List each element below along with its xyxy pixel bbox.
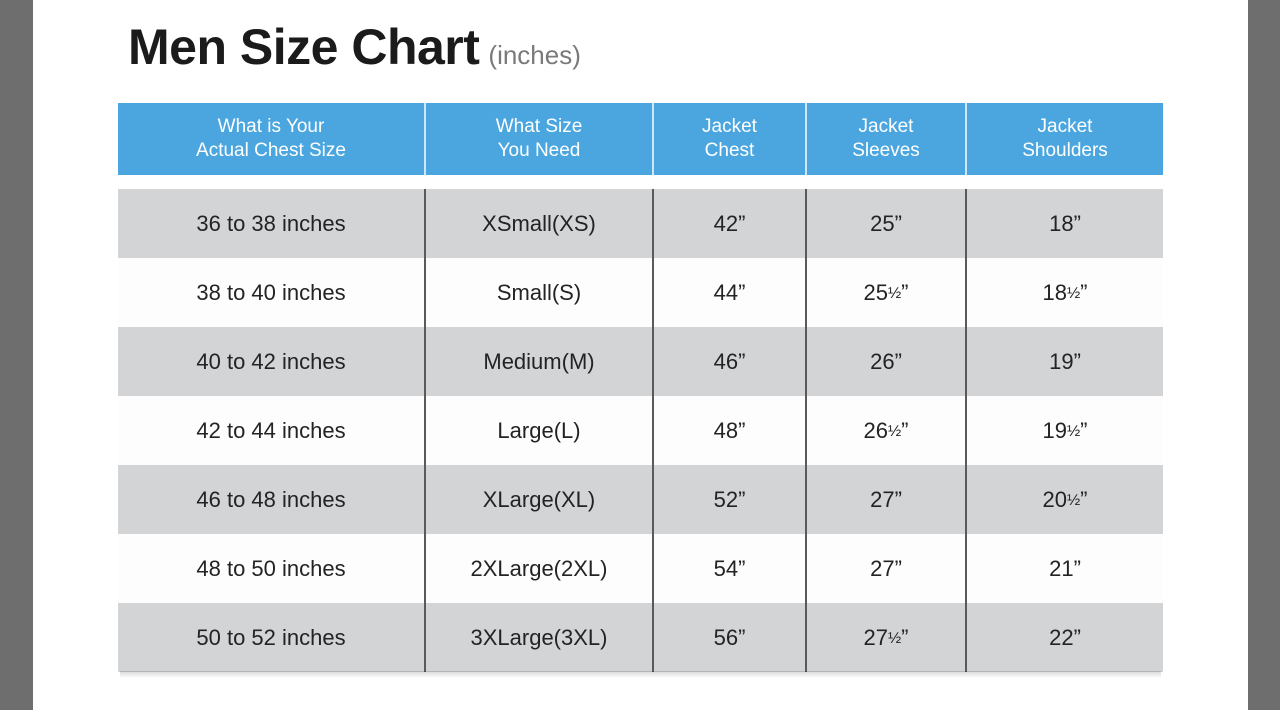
size-chart-table-wrapper: What is Your Actual Chest Size What Size… — [118, 103, 1163, 672]
column-header-jacket-shoulders-line2: Shoulders — [971, 139, 1159, 163]
cell-jacket-sleeves: 27½” — [806, 603, 966, 672]
cell-size-needed: XSmall(XS) — [425, 189, 653, 258]
cell-jacket-sleeves: 25½” — [806, 258, 966, 327]
column-header-jacket-shoulders-line1: Jacket — [971, 115, 1159, 139]
cell-jacket-chest: 44” — [653, 258, 806, 327]
cell-actual-chest: 50 to 52 inches — [118, 603, 425, 672]
cell-jacket-chest: 46” — [653, 327, 806, 396]
column-header-jacket-sleeves-line2: Sleeves — [811, 139, 961, 163]
column-header-jacket-sleeves: Jacket Sleeves — [806, 103, 966, 175]
column-header-jacket-chest: Jacket Chest — [653, 103, 806, 175]
cell-size-needed: Large(L) — [425, 396, 653, 465]
cell-jacket-chest: 54” — [653, 534, 806, 603]
column-header-actual-chest-line2: Actual Chest Size — [122, 139, 420, 163]
column-header-size-needed-line1: What Size — [430, 115, 648, 139]
column-header-actual-chest-line1: What is Your — [122, 115, 420, 139]
column-header-size-needed: What Size You Need — [425, 103, 653, 175]
page-title-main: Men Size Chart — [128, 18, 479, 76]
table-row: 38 to 40 inches Small(S) 44” 25½” 18½” — [118, 258, 1163, 327]
cell-actual-chest: 38 to 40 inches — [118, 258, 425, 327]
cell-jacket-chest: 48” — [653, 396, 806, 465]
cell-jacket-shoulders: 18½” — [966, 258, 1163, 327]
header-body-gap — [118, 175, 1163, 189]
letterbox-right — [1248, 0, 1280, 710]
cell-jacket-sleeves: 26” — [806, 327, 966, 396]
slide-content: Men Size Chart (inches) What is Your Act… — [33, 0, 1248, 710]
cell-jacket-shoulders: 18” — [966, 189, 1163, 258]
cell-jacket-shoulders: 19” — [966, 327, 1163, 396]
cell-jacket-sleeves: 27” — [806, 465, 966, 534]
cell-jacket-shoulders: 22” — [966, 603, 1163, 672]
cell-jacket-shoulders: 21” — [966, 534, 1163, 603]
column-header-jacket-chest-line1: Jacket — [658, 115, 801, 139]
table-row: 36 to 38 inches XSmall(XS) 42” 25” 18” — [118, 189, 1163, 258]
table-header: What is Your Actual Chest Size What Size… — [118, 103, 1163, 175]
page-title: Men Size Chart (inches) — [128, 18, 581, 76]
cell-actual-chest: 46 to 48 inches — [118, 465, 425, 534]
cell-size-needed: 2XLarge(2XL) — [425, 534, 653, 603]
table-row: 48 to 50 inches 2XLarge(2XL) 54” 27” 21” — [118, 534, 1163, 603]
slide-canvas: Men Size Chart (inches) What is Your Act… — [0, 0, 1280, 710]
table-row: 46 to 48 inches XLarge(XL) 52” 27” 20½” — [118, 465, 1163, 534]
cell-jacket-sleeves: 26½” — [806, 396, 966, 465]
column-header-size-needed-line2: You Need — [430, 139, 648, 163]
header-body-gap-cell — [118, 175, 1163, 189]
cell-size-needed: Small(S) — [425, 258, 653, 327]
cell-jacket-chest: 56” — [653, 603, 806, 672]
cell-size-needed: XLarge(XL) — [425, 465, 653, 534]
cell-actual-chest: 40 to 42 inches — [118, 327, 425, 396]
table-body: 36 to 38 inches XSmall(XS) 42” 25” 18” 3… — [118, 175, 1163, 672]
column-header-jacket-sleeves-line1: Jacket — [811, 115, 961, 139]
column-header-jacket-shoulders: Jacket Shoulders — [966, 103, 1163, 175]
table-row: 50 to 52 inches 3XLarge(3XL) 56” 27½” 22… — [118, 603, 1163, 672]
cell-actual-chest: 42 to 44 inches — [118, 396, 425, 465]
size-chart-table: What is Your Actual Chest Size What Size… — [118, 103, 1163, 672]
cell-size-needed: Medium(M) — [425, 327, 653, 396]
cell-actual-chest: 36 to 38 inches — [118, 189, 425, 258]
cell-jacket-sleeves: 27” — [806, 534, 966, 603]
table-drop-shadow — [120, 671, 1161, 678]
column-header-jacket-chest-line2: Chest — [658, 139, 801, 163]
page-title-unit: (inches) — [488, 40, 580, 71]
cell-size-needed: 3XLarge(3XL) — [425, 603, 653, 672]
table-row: 40 to 42 inches Medium(M) 46” 26” 19” — [118, 327, 1163, 396]
cell-jacket-shoulders: 20½” — [966, 465, 1163, 534]
cell-actual-chest: 48 to 50 inches — [118, 534, 425, 603]
cell-jacket-chest: 52” — [653, 465, 806, 534]
cell-jacket-sleeves: 25” — [806, 189, 966, 258]
letterbox-left — [0, 0, 33, 710]
cell-jacket-chest: 42” — [653, 189, 806, 258]
cell-jacket-shoulders: 19½” — [966, 396, 1163, 465]
table-row: 42 to 44 inches Large(L) 48” 26½” 19½” — [118, 396, 1163, 465]
column-header-actual-chest: What is Your Actual Chest Size — [118, 103, 425, 175]
table-header-row: What is Your Actual Chest Size What Size… — [118, 103, 1163, 175]
